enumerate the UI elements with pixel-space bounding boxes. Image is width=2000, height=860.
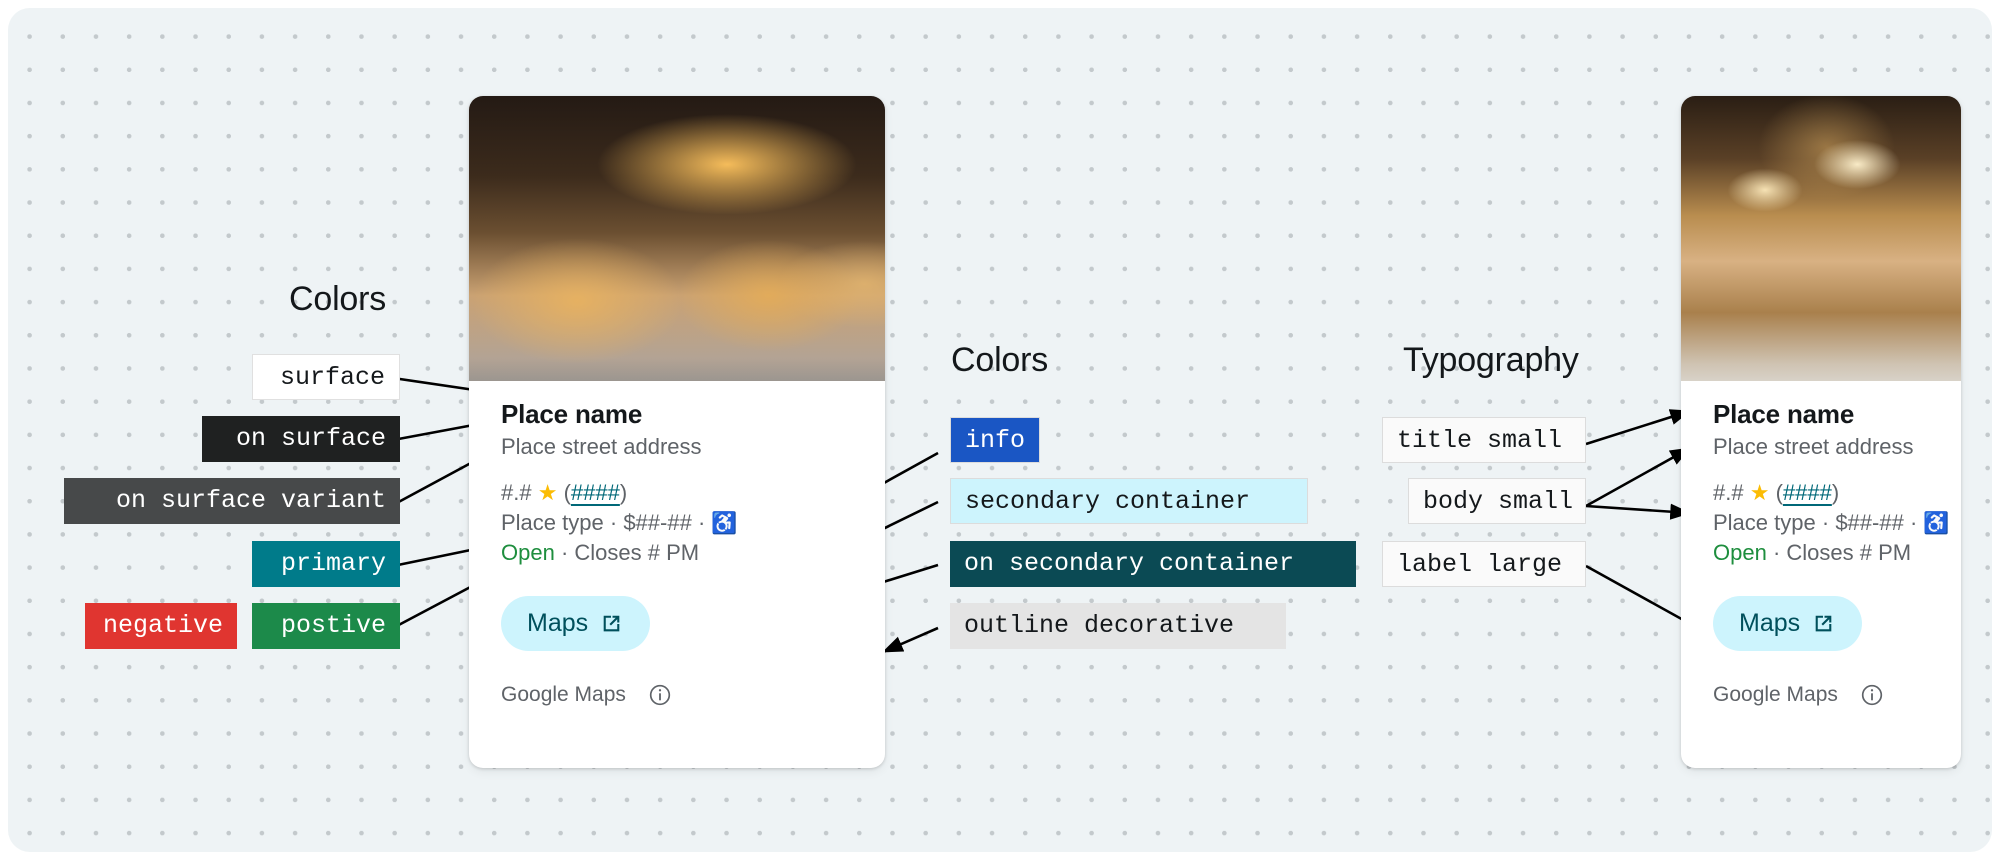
token-label: secondary container — [965, 487, 1250, 516]
token-label: primary — [281, 549, 386, 578]
place-photo-bakery — [469, 96, 885, 381]
place-type: Place type — [501, 510, 604, 535]
closing-time: Closes # PM — [1786, 540, 1911, 565]
place-photo-cafe — [1681, 96, 1961, 381]
open-status: Open — [1713, 540, 1767, 565]
place-card-left-body: Place name Place street address #.# ★ (#… — [469, 381, 885, 707]
place-type-row: Place type · $##-## · ♿ — [1713, 510, 1929, 536]
info-icon[interactable] — [1860, 683, 1884, 707]
closing-time: Closes # PM — [574, 540, 699, 565]
price-range: $##-## — [1835, 510, 1904, 535]
token-label: postive — [281, 611, 386, 640]
token-chip-secondary-container[interactable]: secondary container — [950, 478, 1308, 524]
attribution-row: Google Maps — [501, 683, 853, 707]
attribution-label: Google Maps — [1713, 683, 1838, 707]
colors-left-heading: Colors — [289, 280, 386, 319]
token-chip-negative[interactable]: negative — [85, 603, 237, 649]
place-card-right-body: Place name Place street address #.# ★ (#… — [1681, 381, 1961, 707]
dot-separator: · — [1822, 510, 1829, 535]
rating-value: #.# — [501, 480, 532, 505]
review-paren-close: ) — [1832, 480, 1839, 505]
typography-heading: Typography — [1403, 341, 1579, 380]
review-paren-open: ( — [564, 480, 571, 505]
type-label: title small — [1397, 426, 1562, 455]
maps-button-label: Maps — [1739, 609, 1800, 638]
place-type: Place type — [1713, 510, 1816, 535]
token-label: surface — [280, 363, 385, 392]
open-status: Open — [501, 540, 555, 565]
maps-button[interactable]: Maps — [1713, 596, 1862, 651]
dot-separator: · — [1910, 510, 1917, 535]
review-count-link[interactable]: #### — [1783, 480, 1832, 505]
type-chip-label-large[interactable]: label large — [1382, 541, 1586, 587]
attribution-label: Google Maps — [501, 683, 626, 707]
place-address: Place street address — [1713, 434, 1929, 460]
maps-button-label: Maps — [527, 609, 588, 638]
maps-button[interactable]: Maps — [501, 596, 650, 651]
type-label: body small — [1423, 487, 1573, 516]
dot-separator: · — [561, 540, 568, 565]
token-label: on surface — [236, 424, 386, 453]
price-range: $##-## — [623, 510, 692, 535]
token-label: negative — [103, 611, 223, 640]
star-icon: ★ — [538, 480, 558, 505]
place-name: Place name — [1713, 399, 1929, 430]
type-chip-body-small[interactable]: body small — [1408, 478, 1586, 524]
external-link-icon — [599, 611, 624, 636]
place-type-row: Place type · $##-## · ♿ — [501, 510, 853, 536]
token-chip-primary[interactable]: primary — [252, 541, 400, 587]
token-chip-on-secondary-container[interactable]: on secondary container — [950, 541, 1356, 587]
place-hours-row: Open · Closes # PM — [501, 540, 853, 566]
review-count-link[interactable]: #### — [571, 480, 620, 505]
review-paren-open: ( — [1776, 480, 1783, 505]
token-label: info — [965, 426, 1025, 455]
place-address: Place street address — [501, 434, 853, 460]
dot-separator: · — [1773, 540, 1780, 565]
token-chip-on-surface-variant[interactable]: on surface variant — [64, 478, 400, 524]
token-chip-on-surface[interactable]: on surface — [202, 416, 400, 462]
token-chip-postive[interactable]: postive — [252, 603, 400, 649]
place-card-left[interactable]: Place name Place street address #.# ★ (#… — [469, 96, 885, 768]
token-chip-outline-decorative[interactable]: outline decorative — [950, 603, 1286, 649]
attribution-row: Google Maps — [1713, 683, 1929, 707]
token-chip-surface[interactable]: surface — [252, 354, 400, 400]
place-name: Place name — [501, 399, 853, 430]
token-label: on surface variant — [116, 486, 386, 515]
place-hours-row: Open · Closes # PM — [1713, 540, 1929, 566]
external-link-icon — [1811, 611, 1836, 636]
place-rating-row: #.# ★ (####) — [501, 480, 853, 506]
star-icon: ★ — [1750, 480, 1770, 505]
design-canvas: Colors surface on surface on surface var… — [8, 8, 1992, 852]
token-label: outline decorative — [964, 611, 1234, 640]
type-label: label large — [1397, 550, 1562, 579]
token-chip-info[interactable]: info — [950, 417, 1040, 463]
place-card-right[interactable]: Place name Place street address #.# ★ (#… — [1681, 96, 1961, 768]
review-paren-close: ) — [620, 480, 627, 505]
wheelchair-icon: ♿ — [711, 512, 737, 535]
dot-separator: · — [610, 510, 617, 535]
token-label: on secondary container — [964, 549, 1294, 578]
info-icon[interactable] — [648, 683, 672, 707]
dot-separator: · — [698, 510, 705, 535]
place-rating-row: #.# ★ (####) — [1713, 480, 1929, 506]
rating-value: #.# — [1713, 480, 1744, 505]
colors-mid-heading: Colors — [951, 341, 1048, 380]
type-chip-title-small[interactable]: title small — [1382, 417, 1586, 463]
wheelchair-icon: ♿ — [1923, 512, 1949, 535]
